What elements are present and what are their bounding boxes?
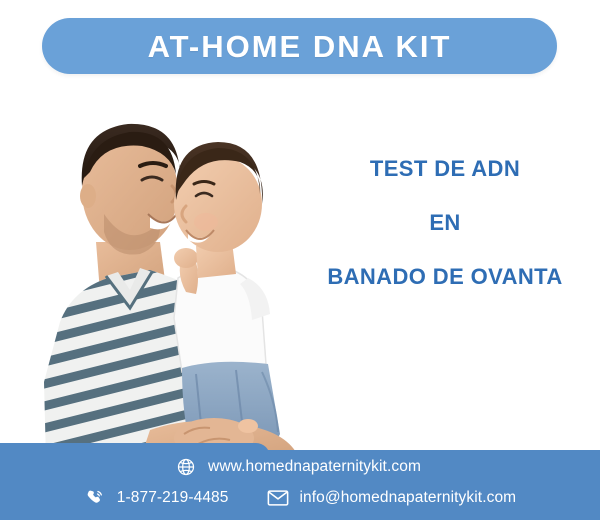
promo-card: AT-HOME DNA KIT: [0, 0, 600, 520]
email-label: info@homednapaternitykit.com: [300, 489, 517, 507]
page-title: AT-HOME DNA KIT: [148, 31, 452, 62]
footer-contact-info: www.homednapaternitykit.com 1-877-219-44…: [0, 450, 600, 520]
family-photo-illustration: [0, 82, 320, 460]
footer-contact-row: 1-877-219-4485 info@homednapaternitykit.…: [0, 483, 600, 513]
globe-icon: [175, 456, 197, 478]
phone-link[interactable]: 1-877-219-4485: [84, 487, 229, 509]
headline-block: TEST DE ADN EN BANADO DE OVANTA: [300, 158, 590, 288]
headline-line-2: EN: [300, 212, 590, 234]
family-photo: [0, 82, 320, 460]
phone-label: 1-877-219-4485: [117, 489, 229, 507]
footer-website-row: www.homednapaternitykit.com: [0, 452, 600, 482]
phone-icon: [84, 487, 106, 509]
website-link[interactable]: www.homednapaternitykit.com: [175, 456, 425, 478]
envelope-icon: [267, 487, 289, 509]
headline-line-1: TEST DE ADN: [300, 158, 590, 180]
header-banner: AT-HOME DNA KIT: [42, 18, 557, 74]
email-link[interactable]: info@homednapaternitykit.com: [267, 487, 517, 509]
website-label: www.homednapaternitykit.com: [208, 458, 421, 476]
headline-line-3: BANADO DE OVANTA: [300, 266, 590, 288]
